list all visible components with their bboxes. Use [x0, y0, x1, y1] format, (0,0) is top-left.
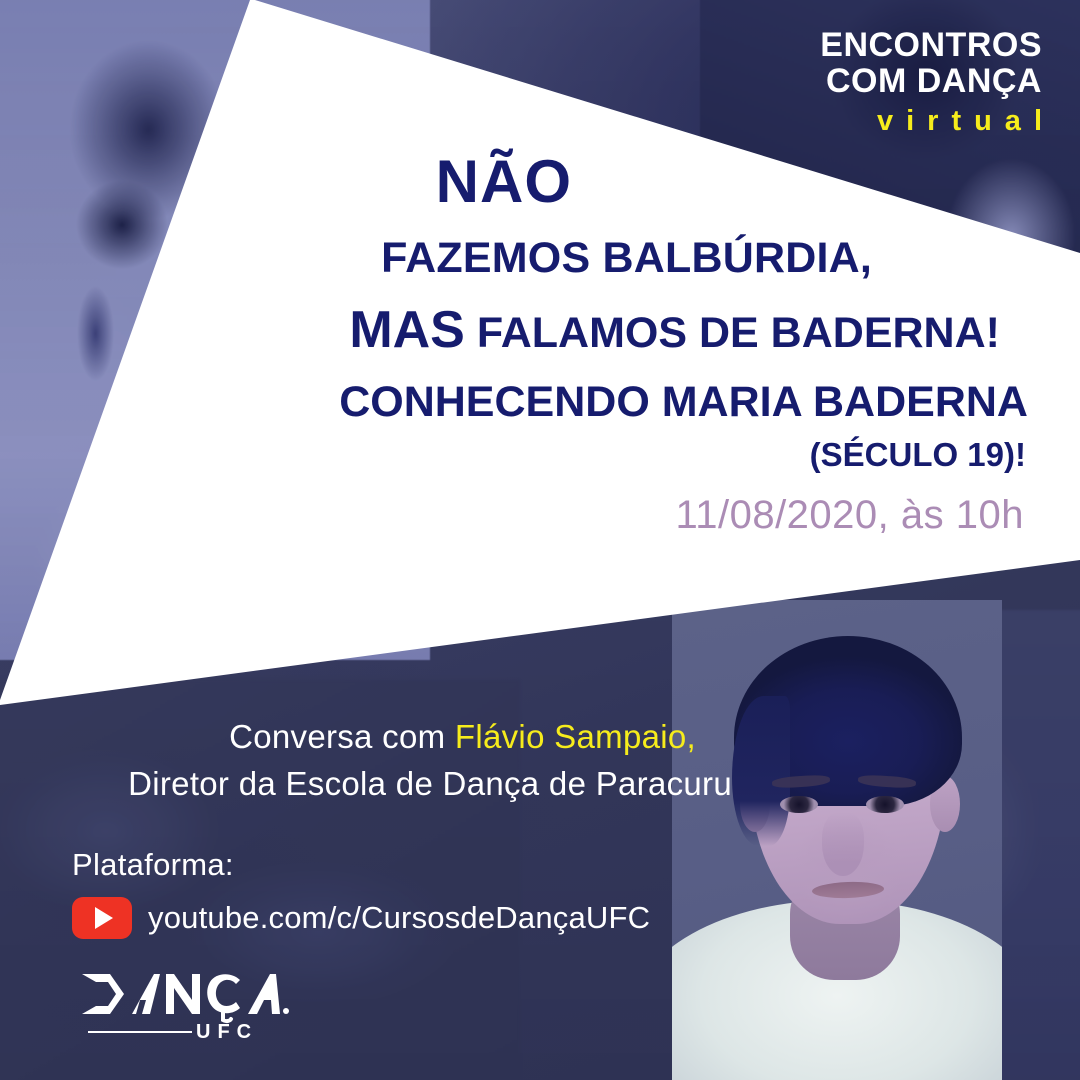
logo-ufc-label: UFC	[196, 1021, 258, 1044]
brand-line-2: COM DANÇA	[820, 64, 1042, 98]
speaker-role: Diretor da Escola de Dança de Paracuru	[72, 765, 732, 803]
speaker-sideburn	[732, 696, 790, 846]
main-title-block: NÃO FAZEMOS BALBÚRDIA, MAS FALAMOS DE BA…	[60, 150, 1040, 538]
brand-virtual-label: virtual	[820, 107, 1055, 136]
title-emphasis-mas: MAS	[349, 301, 465, 359]
conversa-prefix: Conversa com	[229, 718, 455, 755]
speaker-eye-right	[866, 796, 904, 813]
title-line-seculo: (SÉCULO 19)!	[60, 437, 1026, 473]
speaker-info-block: Conversa com Flávio Sampaio, Diretor da …	[72, 718, 732, 939]
speaker-nose	[822, 812, 864, 876]
title-line-nao: NÃO	[60, 150, 572, 213]
platform-link-row[interactable]: youtube.com/c/CursosdeDançaUFC	[72, 897, 732, 939]
play-triangle-icon	[95, 907, 113, 929]
logo-divider	[88, 1031, 192, 1033]
speaker-name: Flávio Sampaio,	[455, 718, 696, 755]
title-line-fazemos: FAZEMOS BALBÚRDIA,	[60, 235, 872, 282]
conversa-line: Conversa com Flávio Sampaio,	[72, 718, 732, 756]
danca-ufc-logo	[80, 966, 300, 1058]
youtube-icon[interactable]	[72, 897, 132, 939]
poster-canvas: ENCONTROS COM DANÇA virtual NÃO FAZEMOS …	[0, 0, 1080, 1080]
brand-line-1: ENCONTROS	[820, 28, 1042, 62]
youtube-url[interactable]: youtube.com/c/CursosdeDançaUFC	[148, 900, 650, 936]
speaker-eye-left	[780, 796, 818, 813]
title-line-mas-falamos: MAS FALAMOS DE BADERNA!	[60, 302, 1000, 359]
event-brand-lockup: ENCONTROS COM DANÇA virtual	[820, 28, 1042, 136]
title-line-conhecendo: CONHECENDO MARIA BADERNA	[60, 379, 1028, 426]
event-date-time: 11/08/2020, às 10h	[60, 493, 1024, 538]
title-line3-rest: FALAMOS DE BADERNA!	[477, 309, 1000, 357]
platform-label: Plataforma:	[72, 847, 732, 883]
